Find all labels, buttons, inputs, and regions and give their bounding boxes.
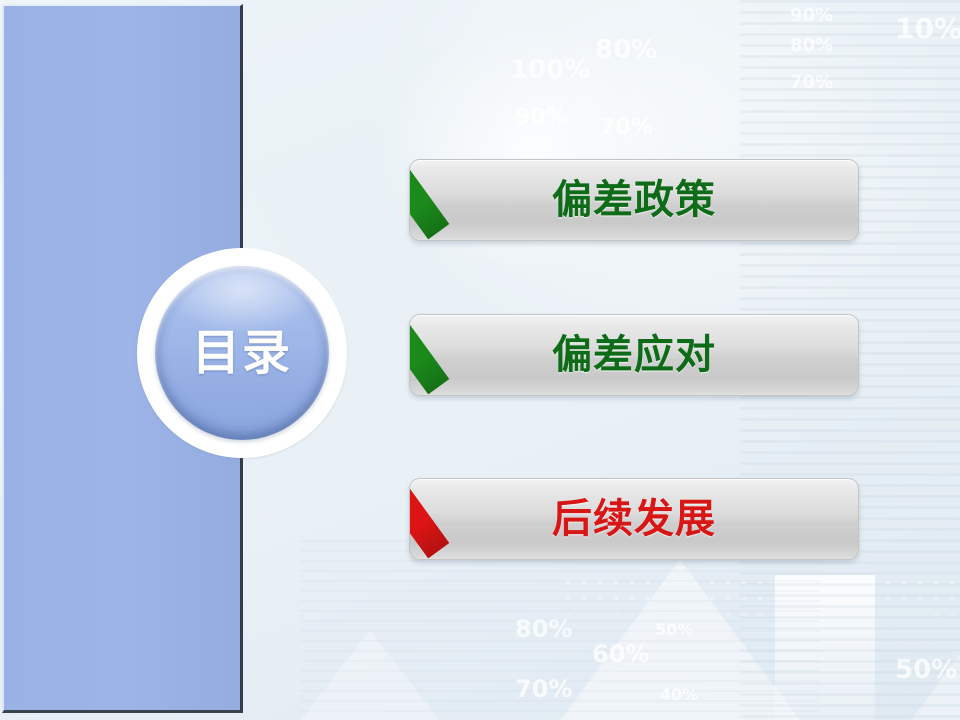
background-watermark: 70%: [790, 72, 833, 93]
background-watermark: 80%: [595, 35, 657, 65]
background-watermark: 70%: [515, 675, 572, 703]
slide-canvas: 100%90%80%70%90%80%70%10%80%60%50%70%40%…: [0, 0, 960, 720]
background-triangle-1: [560, 560, 800, 720]
ribbon-accent-icon: [409, 478, 449, 558]
toc-badge-label: 目录: [192, 329, 292, 377]
background-watermark: 90%: [515, 105, 568, 130]
agenda-item-3[interactable]: 后续发展: [409, 478, 859, 560]
background-line-texture-bottom: [300, 540, 820, 720]
agenda-item-2-label: 偏差应对: [552, 335, 716, 375]
agenda-item-2[interactable]: 偏差应对: [409, 314, 859, 396]
background-watermark: 70%: [600, 115, 653, 140]
background-watermark: 10%: [895, 12, 960, 45]
background-watermark: 50%: [655, 620, 693, 639]
background-watermark: 40%: [660, 685, 698, 704]
ribbon-accent-icon: [409, 314, 449, 394]
agenda-item-3-label: 后续发展: [552, 499, 716, 539]
toc-badge-inner: 目录: [155, 266, 329, 440]
background-triangle-3: [270, 630, 470, 720]
agenda-item-1[interactable]: 偏差政策: [409, 159, 859, 241]
background-white-panel: [775, 575, 875, 720]
background-watermark: 60%: [592, 640, 649, 668]
background-dot-texture: [560, 575, 960, 665]
agenda-item-1-label: 偏差政策: [552, 180, 716, 220]
background-watermark: 90%: [790, 5, 833, 26]
toc-badge: 目录: [137, 248, 347, 458]
background-watermark: 50%: [895, 655, 957, 685]
background-watermark: 80%: [790, 35, 833, 56]
background-watermark: 80%: [515, 615, 572, 643]
ribbon-accent-icon: [409, 159, 449, 239]
background-triangle-2: [860, 640, 960, 720]
background-watermark: 100%: [510, 55, 590, 85]
background-cloud: [380, 20, 680, 280]
